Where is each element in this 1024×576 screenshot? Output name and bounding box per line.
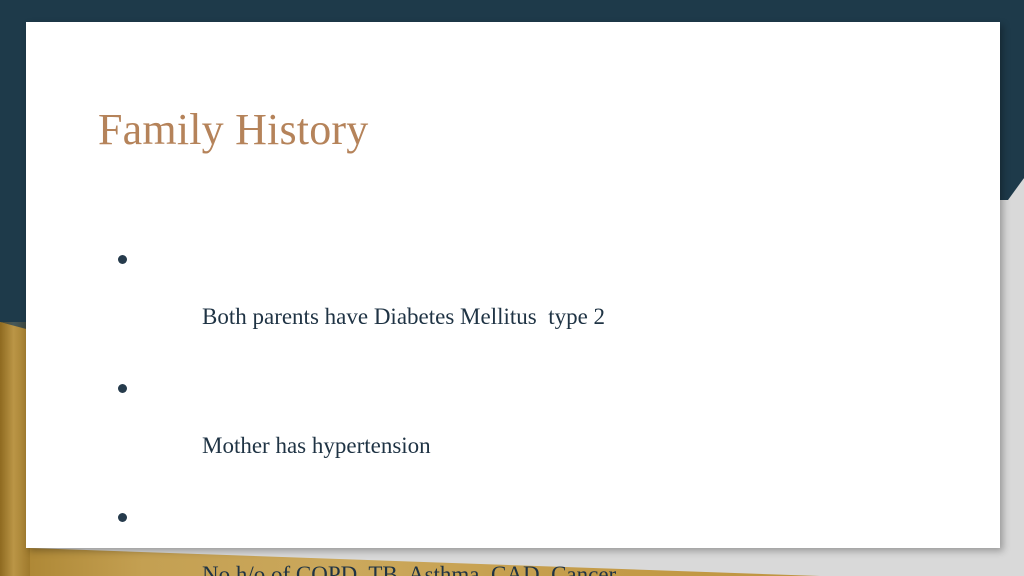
presentation-slide: Family History Both parents have Diabete… — [0, 0, 1024, 576]
slide-content-card: Family History Both parents have Diabete… — [26, 22, 1000, 548]
page-title: Family History — [98, 104, 368, 156]
list-item-label: Mother has hypertension — [202, 433, 431, 458]
list-item: Both parents have Diabetes Mellitus type… — [98, 244, 918, 360]
list-item-label: Both parents have Diabetes Mellitus type… — [202, 304, 605, 329]
disc-bullet-icon — [118, 255, 127, 264]
list-item-label: No h/o of COPD, TB, Asthma, CAD, Cancer — [202, 562, 616, 576]
list-item: No h/o of COPD, TB, Asthma, CAD, Cancer — [98, 502, 918, 576]
disc-bullet-icon — [118, 513, 127, 522]
disc-bullet-icon — [118, 384, 127, 393]
bullet-list: Both parents have Diabetes Mellitus type… — [98, 244, 918, 576]
list-item: Mother has hypertension — [98, 373, 918, 489]
